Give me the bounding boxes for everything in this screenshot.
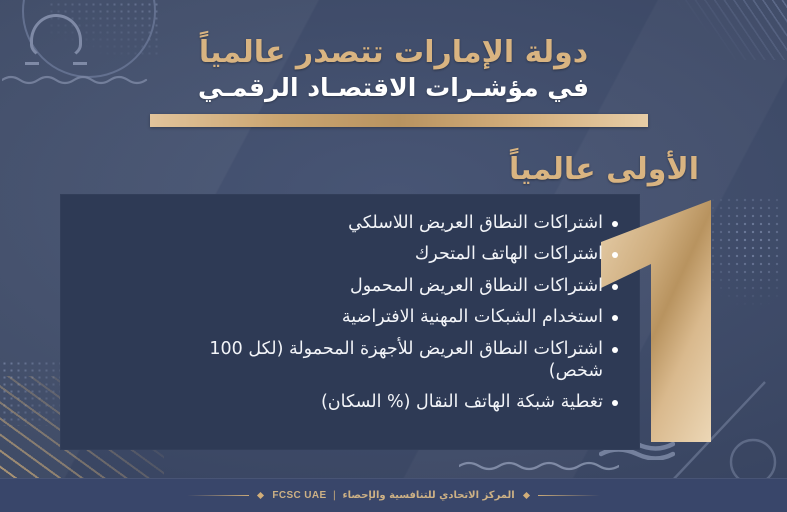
list-item: اشتراكات النطاق العريض المحمول [60,275,640,297]
list-item: اشتراكات الهاتف المتحرك [60,243,640,265]
title-line-2: في مؤشـرات الاقتصـاد الرقمـي [140,73,647,103]
bullet-dot-icon [612,252,618,258]
title-line-1: دولة الإمارات تتصدر عالمياً [140,36,647,70]
list-item-label: اشتراكات النطاق العريض المحمول [72,275,603,297]
footer-content: المركز الاتحادي للتنافسية والإحصاء | FCS… [187,490,599,501]
list-item: تغطية شبكة الهاتف النقال (% السكان) [60,391,640,413]
list-item-label: اشتراكات النطاق العريض اللاسلكي [72,212,603,234]
bullet-dot-icon [612,315,618,321]
bullet-dot-icon [612,347,618,353]
diagonal-hatch-ornament-top-right [677,0,787,60]
omega-symbol-icon [30,14,82,60]
wave-line-icon-top-left [2,74,152,86]
list-item-label: اشتراكات النطاق العريض للأجهزة المحمولة … [178,338,603,383]
squiggle-line-ornament [459,460,619,472]
bullet-dot-icon [612,284,618,290]
footer-bar: المركز الاتحادي للتنافسية والإحصاء | FCS… [0,478,787,512]
footer-credit: المركز الاتحادي للتنافسية والإحصاء | FCS… [272,490,514,501]
title-block: دولة الإمارات تتصدر عالمياً في مؤشـرات ا… [140,36,647,102]
footer-rule-left [187,495,249,496]
list-item: اشتراكات النطاق العريض اللاسلكي [60,212,640,234]
footer-rule-right [538,495,600,496]
footer-org-arabic: المركز الاتحادي للتنافسية والإحصاء [343,490,515,501]
gold-divider-bar [150,114,648,127]
diamond-icon-left [257,492,264,499]
indicator-list: اشتراكات النطاق العريض اللاسلكي اشتراكات… [60,212,640,423]
list-item-label: استخدام الشبكات المهنية الافتراضية [72,306,603,328]
list-item: اشتراكات النطاق العريض للأجهزة المحمولة … [60,338,640,383]
footer-separator: | [333,490,337,501]
list-item-label: اشتراكات الهاتف المتحرك [72,243,603,265]
diamond-icon-right [523,492,530,499]
infographic-poster: دولة الإمارات تتصدر عالمياً في مؤشـرات ا… [0,0,787,512]
bullet-dot-icon [612,221,618,227]
footer-org-english: FCSC UAE [272,490,326,501]
list-item-label: تغطية شبكة الهاتف النقال (% السكان) [72,391,603,413]
list-item: استخدام الشبكات المهنية الافتراضية [60,306,640,328]
bullet-dot-icon [612,400,618,406]
subheading-first-globally: الأولى عالمياً [509,152,699,187]
